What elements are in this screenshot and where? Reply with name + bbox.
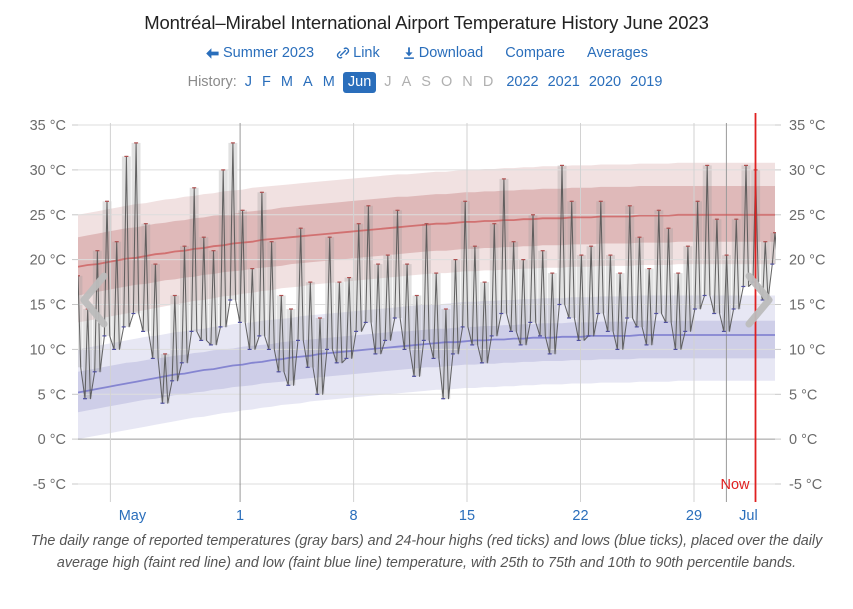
history-month-11-d: D (480, 74, 496, 90)
history-month-3-a[interactable]: A (300, 74, 316, 90)
y-axis-label-right: 30 °C (789, 163, 825, 179)
y-axis-label-right: 5 °C (789, 387, 817, 403)
history-month-2-m[interactable]: M (278, 74, 296, 90)
temperature-chart[interactable]: -5 °C-5 °C0 °C0 °C5 °C5 °C10 °C10 °C15 °… (0, 100, 853, 525)
y-axis-label-left: 20 °C (30, 253, 66, 269)
history-month-8-s: S (418, 74, 434, 90)
nav-link-label: Link (353, 45, 380, 61)
history-year-2019[interactable]: 2019 (627, 74, 665, 90)
y-axis-label-right: 25 °C (789, 208, 825, 224)
x-axis-label-22: 22 (572, 508, 588, 524)
y-axis-label-left: 5 °C (38, 387, 66, 403)
history-year-2022[interactable]: 2022 (503, 74, 541, 90)
y-axis-label-left: 0 °C (38, 432, 66, 448)
chart-caption: The daily range of reported temperatures… (26, 531, 827, 574)
x-axis-label-29: 29 (686, 508, 702, 524)
y-axis-label-right: 0 °C (789, 432, 817, 448)
nav-summer-2023-label: Summer 2023 (223, 45, 314, 61)
y-axis-label-left: 15 °C (30, 298, 66, 314)
y-axis-label-right: 35 °C (789, 118, 825, 134)
history-label: History: (188, 74, 237, 90)
history-month-6-j: J (381, 74, 394, 90)
y-axis-label-left: 10 °C (30, 342, 66, 358)
now-label: Now (720, 477, 750, 493)
nav-link[interactable]: Link (336, 45, 380, 61)
y-axis-label-left: 30 °C (30, 163, 66, 179)
x-axis-label-may: May (119, 508, 147, 524)
x-axis-label-1: 1 (236, 508, 244, 524)
nav-averages[interactable]: Averages (587, 45, 648, 61)
history-month-9-o: O (438, 74, 455, 90)
temperature-history-page: Montréal–Mirabel International Airport T… (0, 0, 853, 609)
history-month-10-n: N (459, 74, 475, 90)
history-month-4-m[interactable]: M (320, 74, 338, 90)
history-month-7-a: A (399, 74, 415, 90)
x-axis-label-8: 8 (350, 508, 358, 524)
nav-compare-label: Compare (505, 45, 565, 61)
nav-compare[interactable]: Compare (505, 45, 565, 61)
link-icon (336, 46, 350, 60)
y-axis-label-right: -5 °C (789, 477, 822, 493)
nav-averages-label: Averages (587, 45, 648, 61)
y-axis-label-right: 15 °C (789, 298, 825, 314)
nav-download[interactable]: Download (402, 45, 484, 61)
history-month-5-jun[interactable]: Jun (343, 72, 376, 93)
y-axis-label-right: 20 °C (789, 253, 825, 269)
history-month-0-j[interactable]: J (242, 74, 255, 90)
history-selector: History:J F M A M Jun J A S O N D 202220… (0, 72, 853, 93)
x-axis-label-jul: Jul (739, 508, 758, 524)
history-year-2021[interactable]: 2021 (545, 74, 583, 90)
nav-download-label: Download (419, 45, 484, 61)
nav-summer-2023[interactable]: Summer 2023 (205, 45, 314, 61)
y-axis-label-left: 25 °C (30, 208, 66, 224)
primary-nav: Summer 2023 Link Download Compare Averag… (0, 45, 853, 61)
page-title: Montréal–Mirabel International Airport T… (0, 12, 853, 34)
y-axis-label-left: 35 °C (30, 118, 66, 134)
y-axis-label-left: -5 °C (33, 477, 66, 493)
plot-mask-top (0, 100, 853, 123)
history-year-2020[interactable]: 2020 (586, 74, 624, 90)
x-axis-label-15: 15 (459, 508, 475, 524)
download-icon (402, 46, 416, 60)
history-month-1-f[interactable]: F (259, 74, 274, 90)
arrow-left-icon (205, 47, 220, 60)
y-axis-label-right: 10 °C (789, 342, 825, 358)
